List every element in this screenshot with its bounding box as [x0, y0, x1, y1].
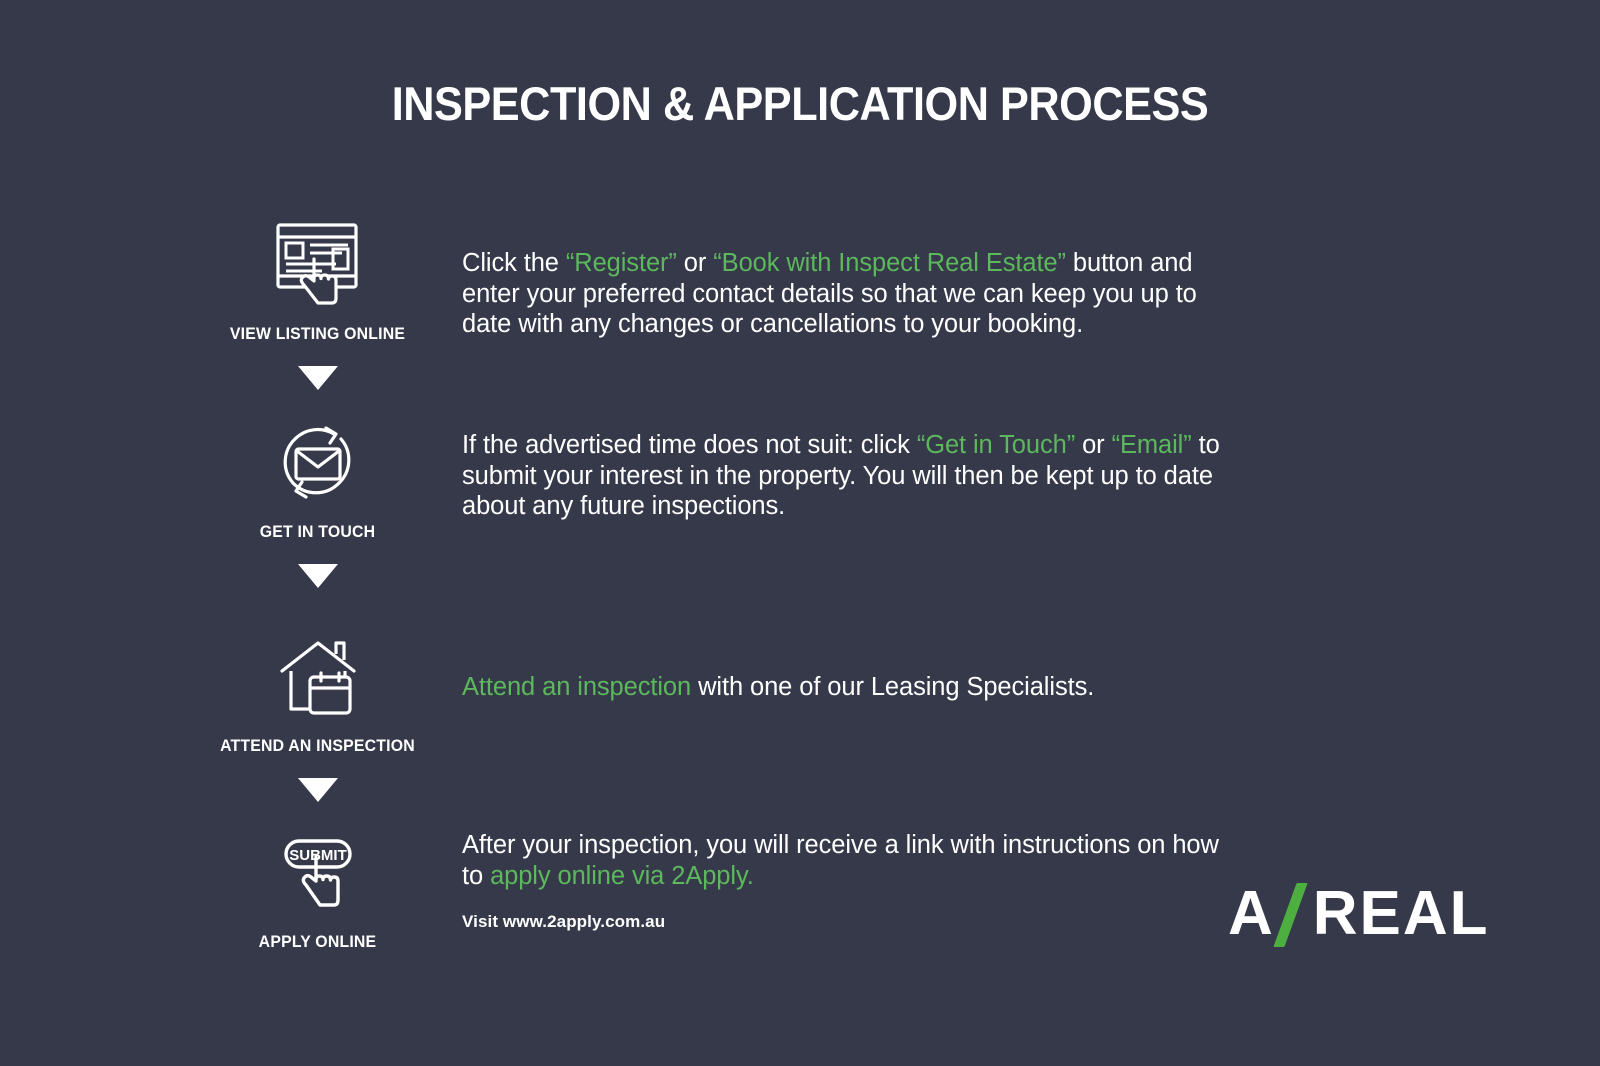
infographic-page: INSPECTION & APPLICATION PROCESS VIEW [0, 0, 1600, 1066]
desc2-part1: If the advertised time does not suit: cl… [462, 431, 917, 459]
step-attend-an-inspection: ATTEND AN INSPECTION [180, 627, 455, 802]
step-apply-online: SUBMIT APPLY ONLINE [180, 823, 455, 952]
desc1-part2: or [677, 249, 713, 277]
envelope-refresh-icon [180, 413, 455, 513]
desc2-link-get-in-touch[interactable]: “Get in Touch” [917, 431, 1075, 459]
desc3-link-attend-inspection[interactable]: Attend an inspection [462, 673, 691, 701]
submit-button-cursor-icon: SUBMIT [180, 823, 455, 923]
description-step-4: After your inspection, you will receive … [462, 830, 1242, 891]
description-step-1: Click the “Register” or “Book with Inspe… [462, 248, 1242, 340]
step-label: VIEW LISTING ONLINE [186, 325, 450, 344]
listing-window-cursor-icon [180, 215, 455, 315]
description-step-2: If the advertised time does not suit: cl… [462, 430, 1242, 522]
desc3-part1: with one of our Leasing Specialists. [691, 673, 1094, 701]
desc1-link-register[interactable]: “Register” [566, 249, 677, 277]
desc4-link-apply-online-2apply[interactable]: apply online via 2Apply. [490, 862, 754, 890]
desc1-part1: Click the [462, 249, 566, 277]
logo-letter-a: A [1228, 878, 1275, 949]
submit-icon-label: SUBMIT [289, 847, 347, 864]
triangle-down-icon [298, 778, 338, 802]
house-calendar-icon [180, 627, 455, 727]
step-label: GET IN TOUCH [186, 523, 450, 542]
triangle-down-icon [298, 564, 338, 588]
page-title: INSPECTION & APPLICATION PROCESS [64, 76, 1536, 131]
step-label: ATTEND AN INSPECTION [186, 737, 450, 756]
desc2-link-email[interactable]: “Email” [1112, 431, 1192, 459]
visit-url-text[interactable]: Visit www.2apply.com.au [462, 912, 665, 932]
desc1-link-book-with-ire[interactable]: “Book with Inspect Real Estate” [713, 249, 1066, 277]
desc2-part2: or [1075, 431, 1111, 459]
triangle-down-icon [298, 366, 338, 390]
brand-logo: A REAL [1228, 878, 1490, 949]
step-view-listing-online: VIEW LISTING ONLINE [180, 215, 455, 390]
logo-slash-icon [1281, 883, 1311, 945]
step-label: APPLY ONLINE [186, 933, 450, 952]
logo-word-real: REAL [1313, 878, 1490, 949]
description-step-3: Attend an inspection with one of our Lea… [462, 672, 1242, 703]
step-get-in-touch: GET IN TOUCH [180, 413, 455, 588]
